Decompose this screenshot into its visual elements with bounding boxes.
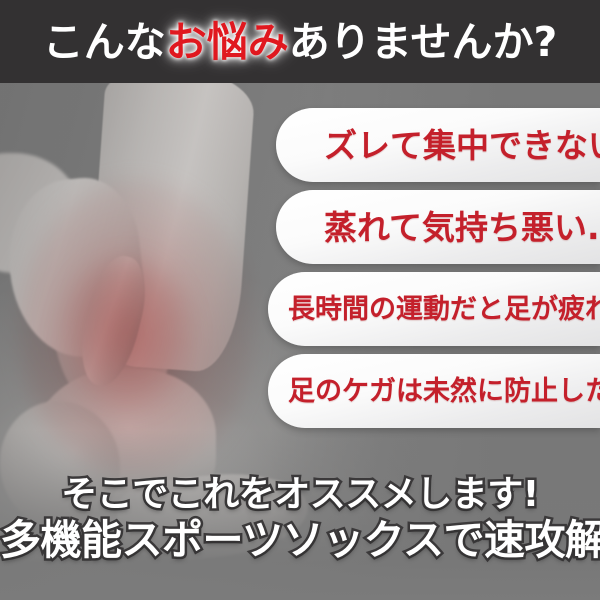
pain-point-bubble-label: 足のケガは未然に防止したい — [268, 378, 600, 405]
advertisement-banner: こんなお悩みありませんか? ズレて集中できない 蒸れて気持ち悪い... 長時間の… — [0, 0, 600, 600]
header-highlight: お悩み — [166, 18, 289, 66]
pain-point-bubble-label: 長時間の運動だと足が疲れる — [268, 296, 600, 323]
pain-point-bubble[interactable]: 蒸れて気持ち悪い... — [276, 190, 600, 264]
header-prefix: こんな — [43, 18, 166, 66]
header-banner: こんなお悩みありませんか? — [0, 0, 600, 83]
pain-point-bubble[interactable]: 長時間の運動だと足が疲れる — [268, 272, 600, 346]
bottom-copy-line-2: 多機能スポーツソックスで速攻解決! — [0, 518, 600, 562]
header-suffix: ありませんか? — [289, 18, 558, 66]
pain-point-bubble[interactable]: ズレて集中できない — [276, 108, 600, 182]
header-headline: こんなお悩みありませんか? — [43, 22, 558, 63]
pain-point-bubble-label: 蒸れて気持ち悪い... — [276, 211, 600, 244]
bottom-copy-line-1: そこでこれをオススメします! — [0, 476, 600, 515]
bottom-copy-block: そこでこれをオススメします! 多機能スポーツソックスで速攻解決! — [0, 476, 600, 562]
pain-point-bubble[interactable]: 足のケガは未然に防止したい — [268, 354, 600, 428]
pain-point-bubble-label: ズレて集中できない — [276, 129, 600, 162]
